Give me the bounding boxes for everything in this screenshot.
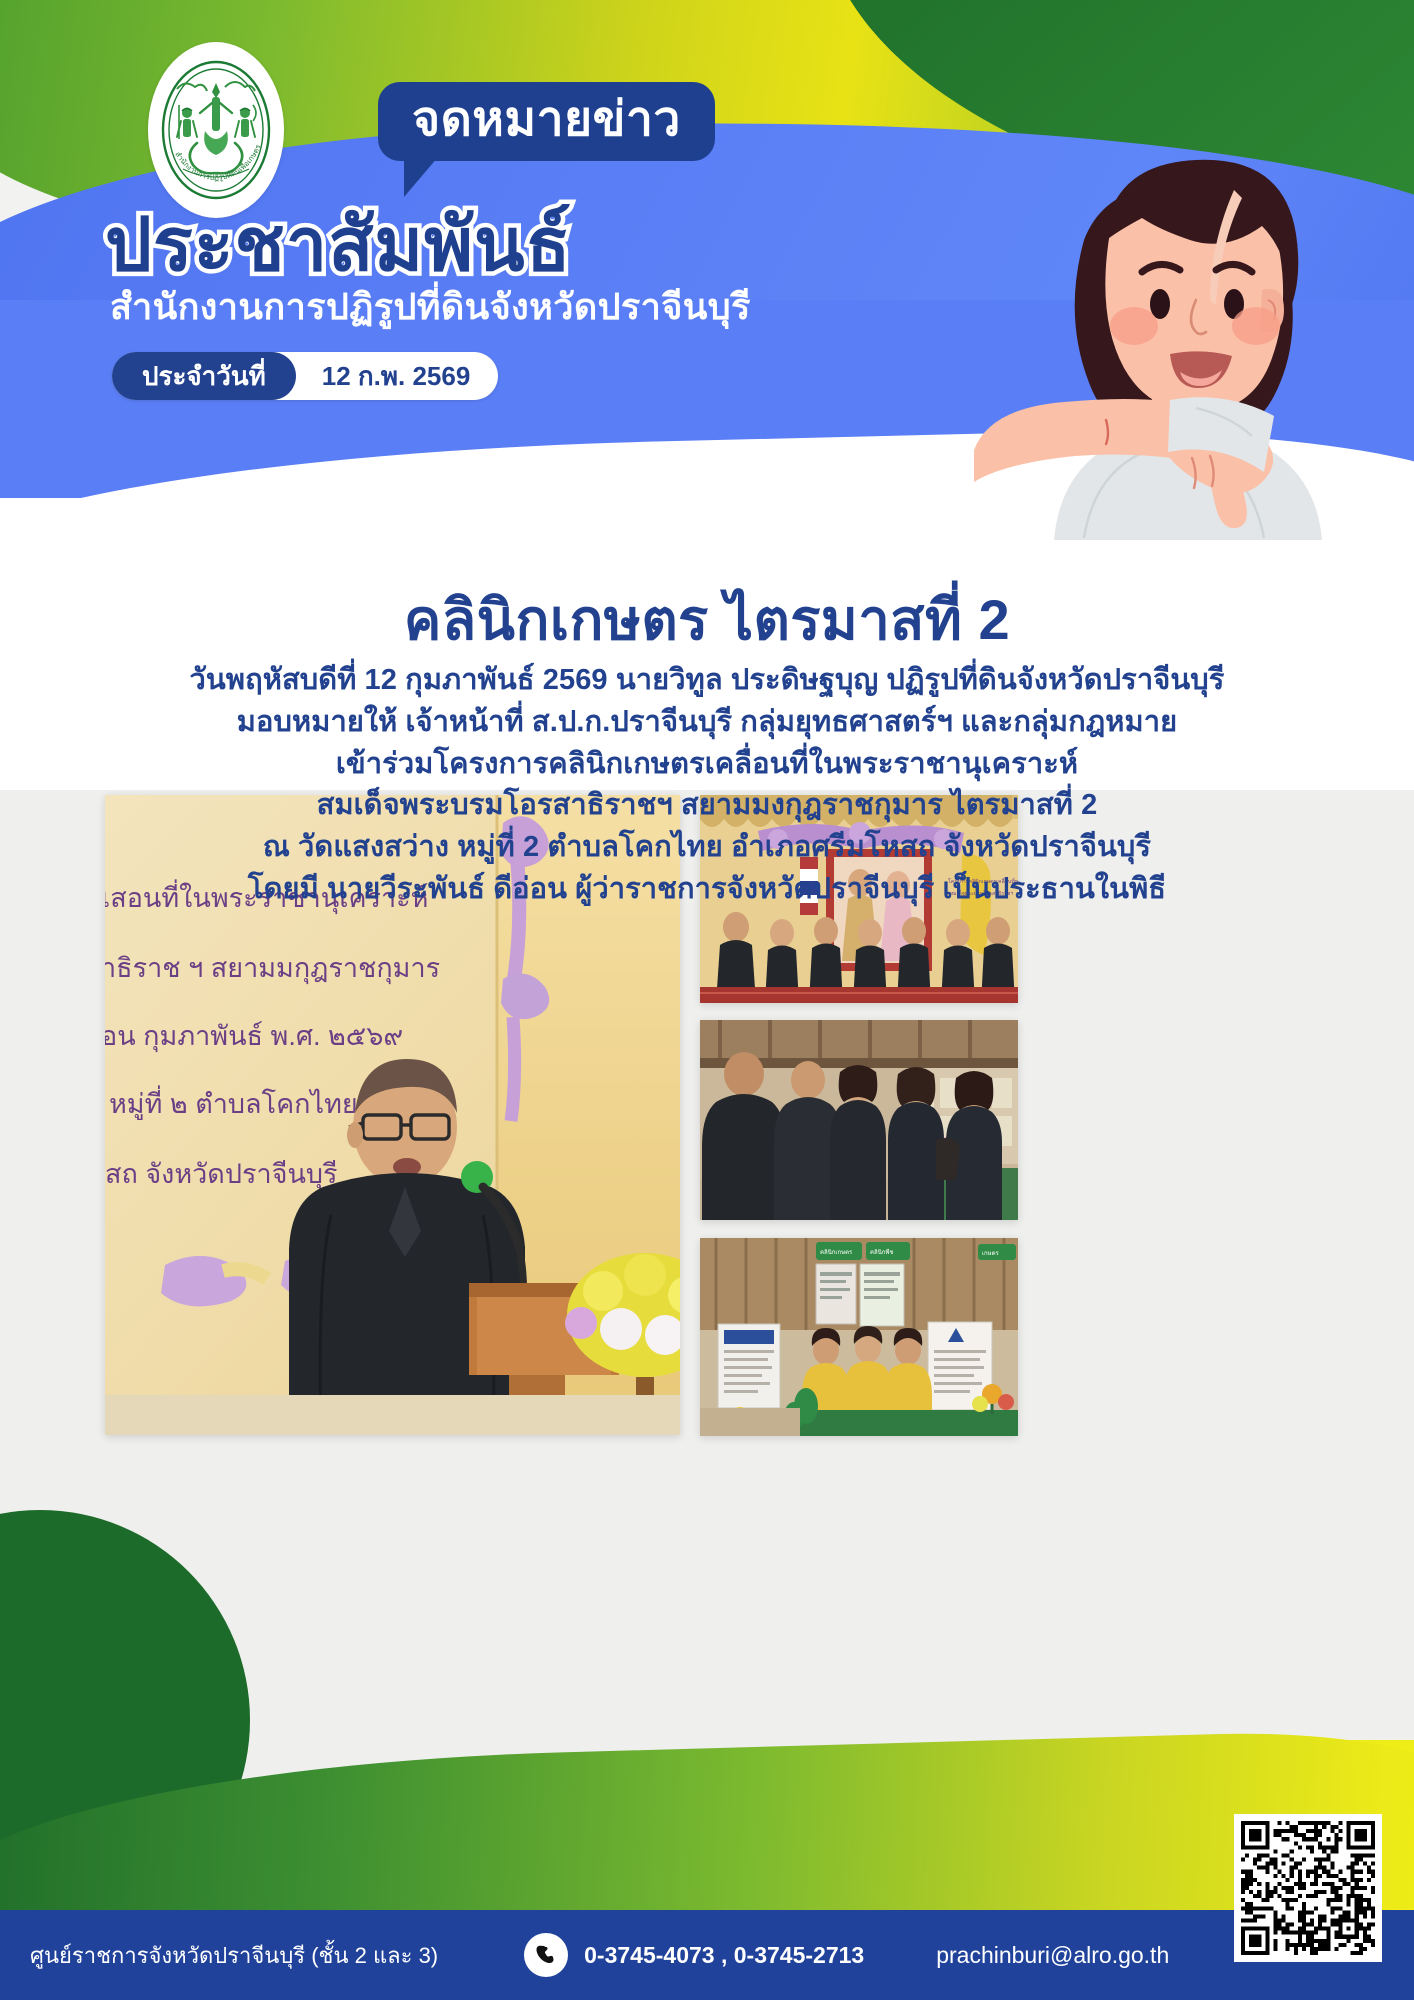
svg-text:อน กุมภาพันธ์ พ.ศ. ๒๕๖๙: อน กุมภาพันธ์ พ.ศ. ๒๕๖๙ bbox=[105, 1020, 403, 1053]
body-line: วันพฤหัสบดีที่ 12 กุมภาพันธ์ 2569 นายวิท… bbox=[0, 660, 1414, 702]
date-badge: ประจำวันที่ 12 ก.พ. 2569 bbox=[112, 352, 498, 400]
footer-email: prachinburi@alro.go.th bbox=[936, 1942, 1169, 1969]
office-subtitle: สำนักงานการปฏิรูปที่ดินจังหวัดปราจีนบุรี bbox=[110, 278, 751, 335]
body-line: สมเด็จพระบรมโอรสาธิราชฯ สยามมงกุฎราชกุมา… bbox=[0, 785, 1414, 827]
date-value: 12 ก.พ. 2569 bbox=[296, 356, 471, 397]
mascot-woman-pointing-icon bbox=[934, 120, 1414, 540]
date-label: ประจำวันที่ bbox=[112, 352, 296, 400]
newsletter-bubble-label: จดหมายข่าว bbox=[378, 82, 715, 161]
svg-text:คลินิกเกษตร: คลินิกเกษตร bbox=[820, 1249, 853, 1256]
phone-icon bbox=[524, 1933, 568, 1977]
body-line: โดยมี นายวีระพันธ์ ดีอ่อน ผู้ว่าราชการจั… bbox=[0, 869, 1414, 911]
svg-text:าธิราช ฯ สยามมกุฎราชกุมาร: าธิราช ฯ สยามมกุฎราชกุมาร bbox=[105, 953, 440, 985]
svg-text:สถ จังหวัดปราจีนบุรี: สถ จังหวัดปราจีนบุรี bbox=[105, 1159, 338, 1191]
footer-address: ศูนย์ราชการจังหวัดปราจีนบุรี (ชั้น 2 และ… bbox=[30, 1938, 438, 1973]
footer-phone: 0-3745-4073 , 0-3745-2713 bbox=[584, 1942, 864, 1969]
newsletter-poster: สำนักงานการปฏิรูปที่ดินเพื่อเกษตรกรรม จด… bbox=[0, 0, 1414, 2000]
footer-bar: ศูนย์ราชการจังหวัดปราจีนบุรี (ชั้น 2 และ… bbox=[0, 1910, 1414, 2000]
photo-officials-walking bbox=[700, 1020, 1018, 1220]
qr-code[interactable] bbox=[1234, 1814, 1382, 1962]
article-body: วันพฤหัสบดีที่ 12 กุมภาพันธ์ 2569 นายวิท… bbox=[0, 660, 1414, 911]
body-line: ณ วัดแสงสว่าง หมู่ที่ 2 ตำบลโคกไทย อำเภอ… bbox=[0, 827, 1414, 869]
body-line: เข้าร่วมโครงการคลินิกเกษตรเคลื่อนที่ในพร… bbox=[0, 744, 1414, 786]
svg-text:คลินิกพืช: คลินิกพืช bbox=[870, 1248, 893, 1256]
article-headline: คลินิกเกษตร ไตรมาสที่ 2 bbox=[0, 575, 1414, 664]
svg-text:เกษตร: เกษตร bbox=[982, 1250, 1000, 1257]
svg-text:หมู่ที่ ๒ ตำบลโคกไทย: หมู่ที่ ๒ ตำบลโคกไทย bbox=[109, 1085, 358, 1120]
body-line: มอบหมายให้ เจ้าหน้าที่ ส.ป.ก.ปราจีนบุรี … bbox=[0, 702, 1414, 744]
photo-exhibition-booth: คลินิกเกษตร คลินิกพืช เกษตร bbox=[700, 1238, 1018, 1436]
